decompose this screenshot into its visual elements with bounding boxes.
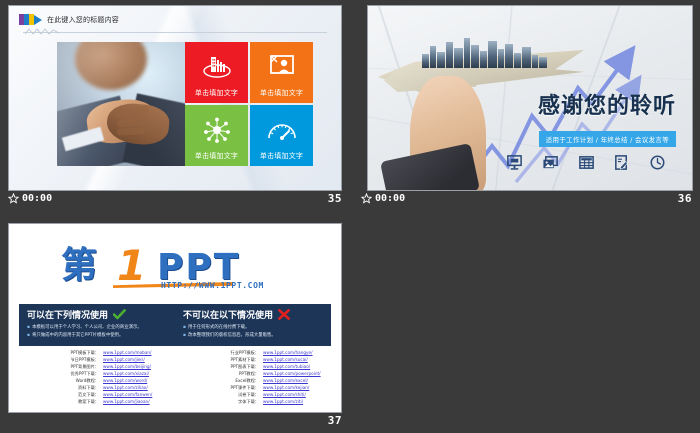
link-row[interactable]: PPT素材下载：www.1ppt.com/sucai/ <box>223 357 331 364</box>
thank-you-title: 感谢您的聆听 <box>538 88 676 120</box>
tile-2[interactable]: 单击填加文字 <box>250 42 313 103</box>
slide-36-timer: 00:00 <box>375 193 405 204</box>
link-label: Excel教程： <box>223 378 259 385</box>
link-label: PPT素材下载： <box>223 357 259 364</box>
link-url[interactable]: www.1ppt.com/beijing/ <box>103 364 151 371</box>
allowed-heading: 可以在下列情况使用 <box>27 308 169 321</box>
building-chart-icon <box>185 51 248 83</box>
link-label: PPT图表下载： <box>223 364 259 371</box>
link-row[interactable]: Excel教程：www.1ppt.com/excel/ <box>223 378 331 385</box>
link-row[interactable]: PPT背景图片：www.1ppt.com/beijing/ <box>63 364 171 371</box>
forbidden-bullet-2: 改本整理我们的版权信息后，形成大量贩售。 <box>183 332 325 340</box>
link-url[interactable]: www.1ppt.com/fanwen/ <box>103 392 152 399</box>
link-url[interactable]: www.1ppt.com/word/ <box>103 378 147 385</box>
link-url[interactable]: www.1ppt.com/shiti/ <box>263 392 306 399</box>
speedometer-icon <box>250 114 313 146</box>
page-title: 在此键入您的标题内容 <box>47 15 119 25</box>
handshake-photo <box>57 42 185 166</box>
tile-1[interactable]: 单击填加文字 <box>185 42 248 103</box>
link-row[interactable]: 范文下载：www.1ppt.com/fanwen/ <box>63 392 171 399</box>
forbidden-bullets: 用于任何形式的在线付费下载。 改本整理我们的版权信息后，形成大量贩售。 <box>183 324 325 339</box>
timer-group: 00:00 <box>8 193 52 204</box>
slide-36-number: 36 <box>678 192 692 205</box>
subtitle-banner: 适用于工作计划 / 年终总结 / 会议发言等 <box>539 131 676 147</box>
link-label: 范文下载： <box>63 392 99 399</box>
slide-35-status-bar: 00:00 35 <box>8 191 342 205</box>
feature-tiles: 单击填加文字 单击填加文字 <box>185 42 313 166</box>
monitor-presentation-icon[interactable] <box>506 154 523 171</box>
brand-logo: 第 1 PPT HTTP://WWW.1PPT.COM <box>61 246 301 292</box>
link-row[interactable]: 试卷下载：www.1ppt.com/shiti/ <box>223 392 331 399</box>
slide-thumbnail-grid: 在此键入您的标题内容 <box>0 0 700 433</box>
link-label: 试卷下载： <box>223 392 259 399</box>
link-url[interactable]: www.1ppt.com/jiaoan/ <box>103 399 150 406</box>
link-label: Word教程： <box>63 378 99 385</box>
link-url[interactable]: www.1ppt.com/powerpoint/ <box>263 371 321 378</box>
link-label: PPT模板下载： <box>63 350 99 357</box>
logo-one: 1 <box>117 244 146 288</box>
slide-35-title-row: 在此键入您的标题内容 <box>19 14 327 25</box>
link-url[interactable]: www.1ppt.com/jieri/ <box>103 357 145 364</box>
tile-3-label: 单击填加文字 <box>195 151 238 161</box>
tile-1-label: 单击填加文字 <box>195 88 238 98</box>
link-label: PPT教程： <box>223 371 259 378</box>
link-url[interactable]: www.1ppt.com/excel/ <box>263 378 308 385</box>
squiggle-decoration <box>25 27 65 35</box>
timer-group: 00:00 <box>361 193 405 204</box>
link-url[interactable]: www.1ppt.com/moban/ <box>103 350 151 357</box>
color-bars-icon <box>19 14 42 25</box>
link-label: 行业PPT模板： <box>223 350 259 357</box>
link-row[interactable]: PPT课件下载：www.1ppt.com/kejian/ <box>223 385 331 392</box>
link-row[interactable]: 字体下载：www.1ppt.com/ziti/ <box>223 399 331 406</box>
link-url[interactable]: www.1ppt.com/xiazai/ <box>103 371 149 378</box>
title-divider <box>23 32 327 33</box>
slide-36-status-bar: 00:00 36 <box>361 191 692 205</box>
star-icon <box>8 193 19 204</box>
edit-document-icon[interactable] <box>613 154 630 171</box>
link-label: 资料下载： <box>63 385 99 392</box>
allowed-bullets: 本模板可以用于个人学习、个人公司、企业的商业演示。 将只做成中的内容用于其它PP… <box>27 324 169 339</box>
link-url[interactable]: www.1ppt.com/sucai/ <box>263 357 308 364</box>
tile-2-label: 单击填加文字 <box>260 88 303 98</box>
logo-di: 第 <box>61 246 97 286</box>
link-row[interactable]: 行业PPT模板：www.1ppt.com/hangye/ <box>223 350 331 357</box>
link-row[interactable]: PPT教程：www.1ppt.com/powerpoint/ <box>223 371 331 378</box>
tile-3[interactable]: 单击填加文字 <box>185 105 248 166</box>
slide-36-canvas[interactable]: 感谢您的聆听 适用于工作计划 / 年终总结 / 会议发言等 <box>367 5 693 191</box>
allowed-bullet-1: 本模板可以用于个人学习、个人公司、企业的商业演示。 <box>27 324 169 332</box>
forbidden-title: 不可以在以下情况使用 <box>183 308 273 321</box>
slide-cell-37[interactable]: 第 1 PPT HTTP://WWW.1PPT.COM 可以在下列情况使用 本模… <box>0 217 350 433</box>
footer-icon-row <box>506 154 666 171</box>
slide-35-canvas[interactable]: 在此键入您的标题内容 <box>8 5 342 191</box>
forbidden-bullet-1: 用于任何形式的在线付费下载。 <box>183 324 325 332</box>
resource-links: PPT模板下载：www.1ppt.com/moban/节日PPT模板：www.1… <box>19 350 331 406</box>
link-row[interactable]: 资料下载：www.1ppt.com/ziliao/ <box>63 385 171 392</box>
link-label: PPT课件下载： <box>223 385 259 392</box>
link-row[interactable]: Word教程：www.1ppt.com/word/ <box>63 378 171 385</box>
slide-cell-36[interactable]: 感谢您的聆听 适用于工作计划 / 年终总结 / 会议发言等 <box>353 0 700 217</box>
links-column-left: PPT模板下载：www.1ppt.com/moban/节日PPT模板：www.1… <box>19 350 171 406</box>
tile-4[interactable]: 单击填加文字 <box>250 105 313 166</box>
table-grid-icon[interactable] <box>578 154 595 171</box>
forbidden-column: 不可以在以下情况使用 用于任何形式的在线付费下载。 改本整理我们的版权信息后，形… <box>175 304 331 346</box>
city-skyline <box>420 34 550 68</box>
star-icon <box>361 193 372 204</box>
clock-icon[interactable] <box>649 154 666 171</box>
slide-37-status-bar: 37 <box>8 413 342 427</box>
allowed-title: 可以在下列情况使用 <box>27 308 108 321</box>
link-url[interactable]: www.1ppt.com/ziti/ <box>263 399 303 406</box>
network-nodes-icon <box>185 114 248 146</box>
link-row[interactable]: PPT模板下载：www.1ppt.com/moban/ <box>63 350 171 357</box>
links-column-right: 行业PPT模板：www.1ppt.com/hangye/PPT素材下载：www.… <box>179 350 331 406</box>
link-row[interactable]: 优秀PPT下载：www.1ppt.com/xiazai/ <box>63 371 171 378</box>
allowed-column: 可以在下列情况使用 本模板可以用于个人学习、个人公司、企业的商业演示。 将只做成… <box>19 304 175 346</box>
slide-37-number: 37 <box>328 414 342 427</box>
link-label: 字体下载： <box>223 399 259 406</box>
link-row[interactable]: 节日PPT模板：www.1ppt.com/jieri/ <box>63 357 171 364</box>
link-url[interactable]: www.1ppt.com/hangye/ <box>263 350 313 357</box>
cross-mark-icon <box>278 309 290 320</box>
link-row[interactable]: 教案下载：www.1ppt.com/jiaoan/ <box>63 399 171 406</box>
slide-35-number: 35 <box>328 192 342 205</box>
link-row[interactable]: PPT图表下载：www.1ppt.com/tubiao/ <box>223 364 331 371</box>
forbidden-heading: 不可以在以下情况使用 <box>183 308 325 321</box>
link-label: 优秀PPT下载： <box>63 371 99 378</box>
tile-4-label: 单击填加文字 <box>260 151 303 161</box>
link-url[interactable]: www.1ppt.com/tubiao/ <box>263 364 310 371</box>
slide-35-timer: 00:00 <box>22 193 52 204</box>
check-mark-icon <box>113 309 126 320</box>
link-label: PPT背景图片： <box>63 364 99 371</box>
presentation-person-icon <box>250 51 313 83</box>
image-slides-icon[interactable] <box>542 154 559 171</box>
allowed-bullet-2: 将只做成中的内容用于其它PPT片模板中使用。 <box>27 332 169 340</box>
link-url[interactable]: www.1ppt.com/kejian/ <box>263 385 309 392</box>
slide-37-canvas[interactable]: 第 1 PPT HTTP://WWW.1PPT.COM 可以在下列情况使用 本模… <box>8 223 342 413</box>
logo-url: HTTP://WWW.1PPT.COM <box>161 281 264 290</box>
link-label: 教案下载： <box>63 399 99 406</box>
slide-cell-35[interactable]: 在此键入您的标题内容 <box>0 0 350 217</box>
link-label: 节日PPT模板： <box>63 357 99 364</box>
usage-terms-band: 可以在下列情况使用 本模板可以用于个人学习、个人公司、企业的商业演示。 将只做成… <box>19 304 331 346</box>
link-url[interactable]: www.1ppt.com/ziliao/ <box>103 385 148 392</box>
